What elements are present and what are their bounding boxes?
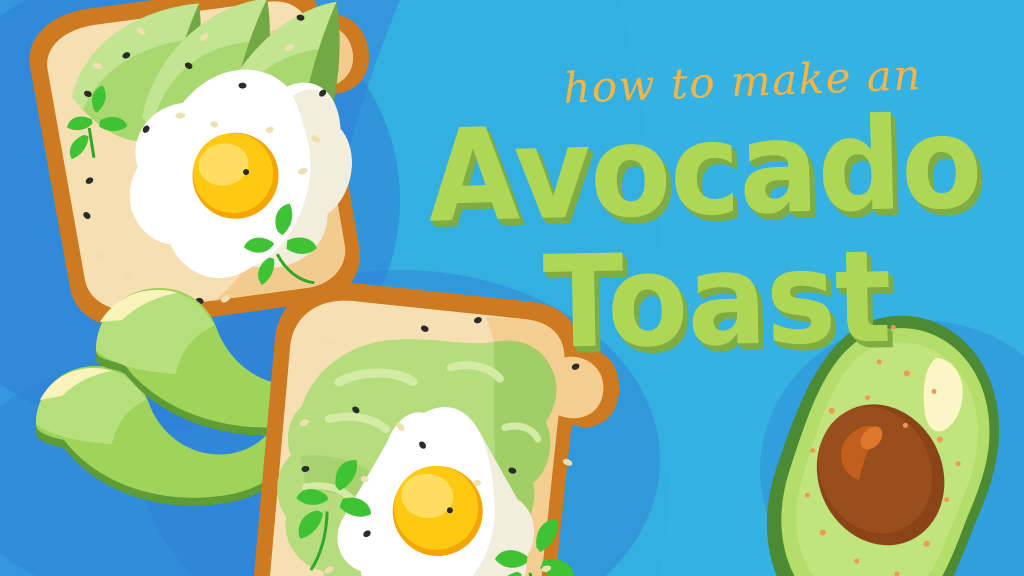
poster-canvas: how to make an Avocado Toast [0, 0, 1024, 576]
avocado-half [0, 0, 1024, 576]
